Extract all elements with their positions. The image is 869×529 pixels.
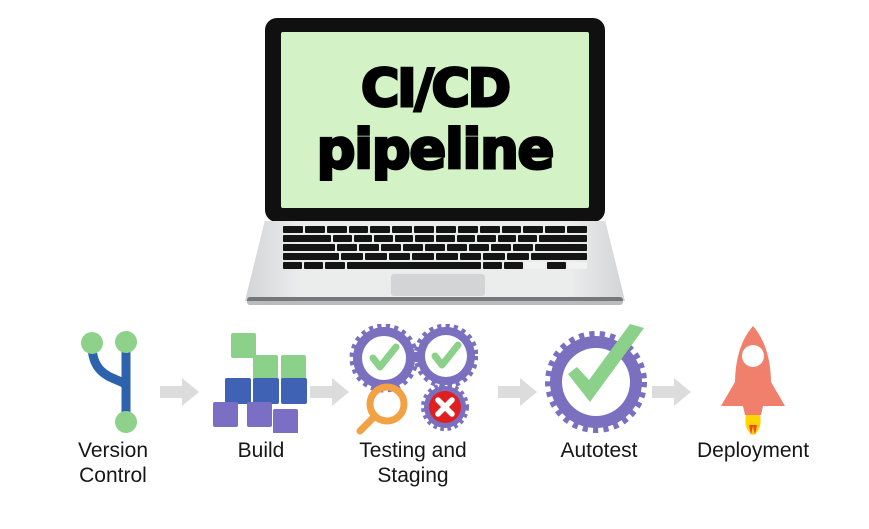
laptop-illustration: CI/CD pipeline <box>245 18 625 308</box>
pipeline-stages: Version Control Build <box>0 325 869 529</box>
keyboard-key <box>539 235 587 242</box>
keyboard-key <box>395 235 414 242</box>
keyboard-key <box>483 253 505 260</box>
stage-label-testing-and-staging: Testing and Staging <box>359 439 466 489</box>
keyboard-key <box>381 244 401 251</box>
keyboard-key <box>365 253 387 260</box>
stage-label-build: Build <box>238 439 285 464</box>
laptop-screen: CI/CD pipeline <box>281 32 589 208</box>
keyboard-row <box>283 235 587 242</box>
keyboard-key <box>337 244 357 251</box>
keyboard-key <box>349 226 369 233</box>
keyboard-key <box>457 235 476 242</box>
keyboard-row <box>283 226 587 233</box>
laptop-lid: CI/CD pipeline <box>265 18 605 222</box>
keyboard-key <box>304 262 323 269</box>
keyboard-key <box>389 253 411 260</box>
build-icon-box <box>186 325 336 435</box>
keyboard-key <box>535 244 587 251</box>
keyboard-key <box>469 244 489 251</box>
keyboard-key <box>283 235 331 242</box>
stage-version-control[interactable]: Version Control <box>38 325 188 525</box>
screen-title-line2: pipeline <box>317 122 554 178</box>
rocket-icon <box>713 322 793 438</box>
keyboard-key <box>327 226 347 233</box>
keyboard-key <box>283 253 339 260</box>
gear-check-left <box>353 327 415 389</box>
stage-label-deployment: Deployment <box>697 439 809 464</box>
keyboard-key <box>370 226 390 233</box>
gear-check-right <box>417 327 475 385</box>
git-branch-icon <box>70 325 156 435</box>
stage-deployment[interactable]: Deployment <box>678 325 828 525</box>
stage-label-version-control: Version Control <box>78 439 148 489</box>
stage-testing-and-staging[interactable]: Testing and Staging <box>338 325 488 525</box>
gear-check-icon <box>544 324 654 436</box>
blocks-grid-icon <box>213 327 309 433</box>
magnifier-icon <box>360 387 404 431</box>
keyboard-key <box>504 262 523 269</box>
keyboard-key <box>283 244 335 251</box>
stage-autotest[interactable]: Autotest <box>524 325 674 525</box>
laptop-bottom-edge-light <box>247 301 623 305</box>
keyboard-key <box>477 235 496 242</box>
keyboard-key <box>403 244 423 251</box>
keyboard-key <box>518 235 537 242</box>
keyboard-key <box>436 253 458 260</box>
gears-check-magnifier-icon <box>348 324 478 436</box>
keyboard-key <box>458 226 478 233</box>
keyboard-key <box>507 253 529 260</box>
keyboard-key <box>333 235 352 242</box>
keyboard-key <box>425 244 445 251</box>
keyboard-key <box>354 235 373 242</box>
keyboard-row-space <box>283 262 587 269</box>
laptop-trackpad <box>391 274 485 296</box>
keyboard-key <box>498 235 517 242</box>
keyboard-key <box>359 244 379 251</box>
autotest-icon-box <box>524 325 674 435</box>
keyboard-key <box>525 262 544 269</box>
keyboard-key <box>412 253 434 260</box>
keyboard-key <box>523 226 543 233</box>
laptop-keyboard <box>283 226 587 270</box>
keyboard-key <box>480 226 500 233</box>
deployment-icon-box <box>678 325 828 435</box>
keyboard-key <box>567 226 587 233</box>
keyboard-key <box>447 244 467 251</box>
keyboard-key <box>547 262 566 269</box>
keyboard-key <box>392 226 412 233</box>
version-control-icon-box <box>38 325 188 435</box>
keyboard-key <box>491 244 511 251</box>
keyboard-key <box>283 262 302 269</box>
keyboard-key <box>283 226 303 233</box>
keyboard-key <box>374 235 393 242</box>
keyboard-key <box>513 244 533 251</box>
gear-error-icon <box>424 386 466 428</box>
keyboard-key <box>568 262 587 269</box>
keyboard-key <box>415 235 434 242</box>
screen-title-line1: CI/CD <box>361 62 509 116</box>
keyboard-key <box>414 226 434 233</box>
stage-build[interactable]: Build <box>186 325 336 525</box>
keyboard-row <box>283 253 587 260</box>
keyboard-key <box>436 226 456 233</box>
keyboard-key <box>341 253 363 260</box>
keyboard-key <box>436 235 455 242</box>
keyboard-key <box>325 262 344 269</box>
testing-icon-box <box>338 325 488 435</box>
keyboard-spacebar <box>347 262 481 269</box>
keyboard-key <box>483 262 502 269</box>
keyboard-key <box>545 226 565 233</box>
keyboard-key <box>305 226 325 233</box>
stage-label-autotest: Autotest <box>560 439 637 464</box>
keyboard-key <box>531 253 587 260</box>
keyboard-row <box>283 244 587 251</box>
keyboard-key <box>460 253 482 260</box>
pipeline-infographic: CI/CD pipeline <box>0 0 869 529</box>
keyboard-key <box>502 226 522 233</box>
